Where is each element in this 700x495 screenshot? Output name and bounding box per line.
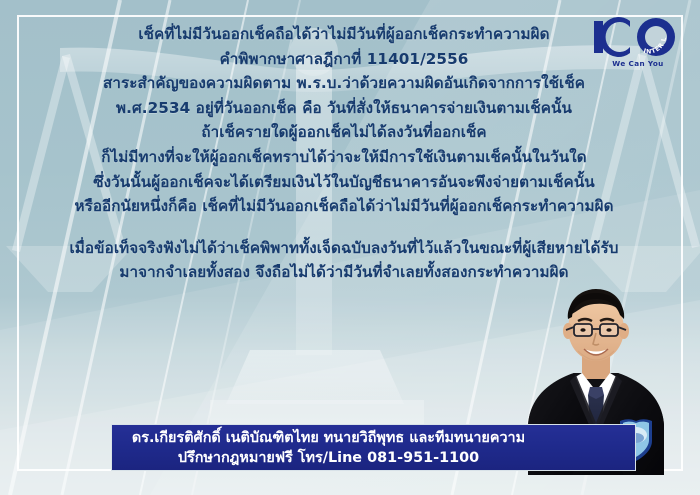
judgement-text-block: เช็คที่ไม่มีวันออกเช็คถือได้ว่าไม่มีวันท… [14,22,674,285]
text-line-5: ถ้าเช็ครายใดผู้ออกเช็คไม่ได้ลงวันที่ออกเ… [14,120,674,145]
text-line-3: สาระสำคัญของความผิดตาม พ.ร.บ.ว่าด้วยความ… [14,71,674,96]
brand-logo[interactable]: INTER LAW We Can You [590,16,686,76]
banner-contact-line: ปรึกษากฎหมายฟรี โทร/Line 081-951-1100 [112,448,635,468]
text-line-7: ซึ่งวันนั้นผู้ออกเช็คจะได้เตรียมเงินไว้ใ… [14,170,674,195]
text-line-4: พ.ศ.2534 อยู่ที่วันออกเช็ค คือ วันที่สั่… [14,96,674,121]
text-line-9: เมื่อข้อเท็จจริงฟังไม่ได้ว่าเช็คพิพาททั้… [14,236,674,261]
text-line-6: ก็ไม่มีทางที่จะให้ผู้ออกเช็คทราบได้ว่าจะ… [14,145,674,170]
text-line-2: คำพิพากษาศาลฎีกาที่ 11401/2556 [14,47,674,72]
poster-root: เช็คที่ไม่มีวันออกเช็คถือได้ว่าไม่มีวันท… [0,0,700,495]
text-line-1: เช็คที่ไม่มีวันออกเช็คถือได้ว่าไม่มีวันท… [14,22,674,47]
logo-tagline: We Can You [590,59,686,68]
text-line-8: หรืออีกนัยหนึ่งก็คือ เช็คที่ไม่มีวันออกเ… [14,194,674,219]
banner-name-line: ดร.เกียรติศักดิ์ เนติบัณฑิตไทย ทนายวิถีพ… [112,428,635,448]
ico-logo-icon: INTER LAW [590,16,686,58]
text-line-spacer [14,219,674,236]
contact-banner: ดร.เกียรติศักดิ์ เนติบัณฑิตไทย ทนายวิถีพ… [111,424,636,471]
